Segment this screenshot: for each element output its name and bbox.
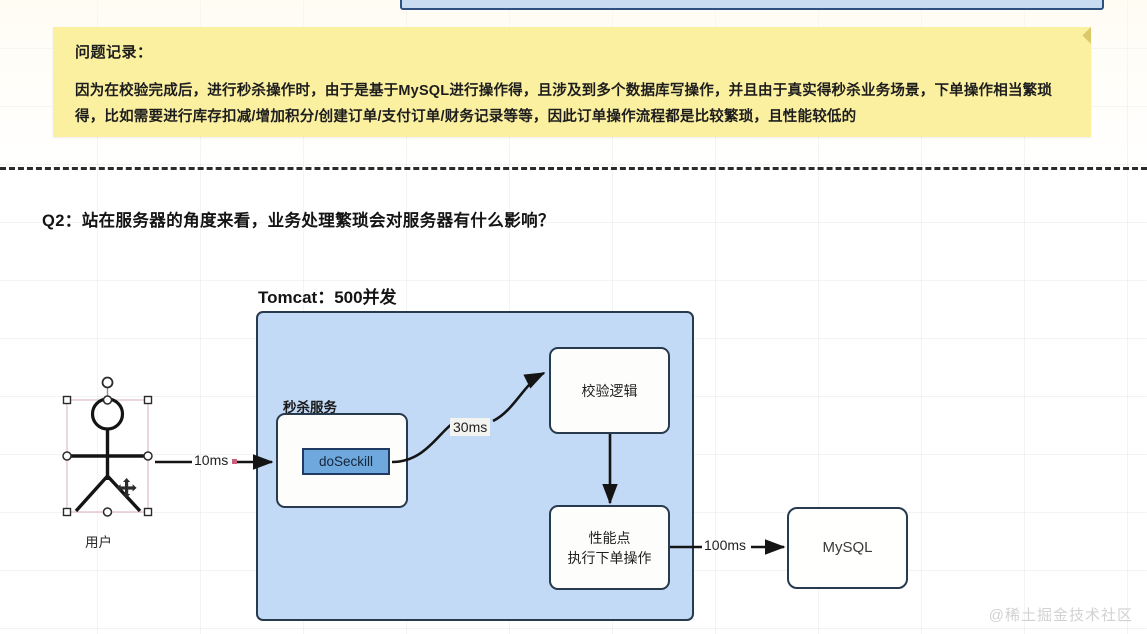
resize-handle-sw[interactable] [64,509,71,516]
edge-label-100ms: 100ms [704,537,746,553]
edge-anchor-dot [232,459,237,464]
architecture-diagram: Tomcat：500并发 秒杀服务 doSeckill 校验逻辑 性能点 执行下… [0,0,1147,634]
resize-handle-s[interactable] [104,508,112,516]
mysql-node: MySQL [787,507,908,589]
performance-point-line2: 执行下单操作 [568,550,652,566]
do-seckill-node[interactable]: doSeckill [302,448,390,475]
rotate-handle-icon[interactable] [103,378,113,388]
watermark: @稀土掘金技术社区 [989,604,1133,625]
resize-handle-e[interactable] [144,452,152,460]
performance-point-line1: 性能点 [589,530,631,546]
edge-label-10ms: 10ms [194,452,228,468]
figure-leg-left [76,476,108,511]
user-actor-shape[interactable] [60,375,155,525]
move-cursor-icon [117,478,137,498]
user-actor-label: 用户 [85,531,112,551]
resize-handle-w[interactable] [63,452,71,460]
resize-handle-ne[interactable] [145,397,152,404]
edge-label-30ms: 30ms [450,418,490,436]
check-logic-node: 校验逻辑 [549,347,670,434]
stick-figure-icon [60,375,155,525]
resize-handle-nw[interactable] [64,397,71,404]
performance-point-node: 性能点 执行下单操作 [549,505,670,590]
tomcat-label: Tomcat：500并发 [258,283,397,308]
resize-handle-se[interactable] [145,509,152,516]
resize-handle-n[interactable] [104,396,112,404]
